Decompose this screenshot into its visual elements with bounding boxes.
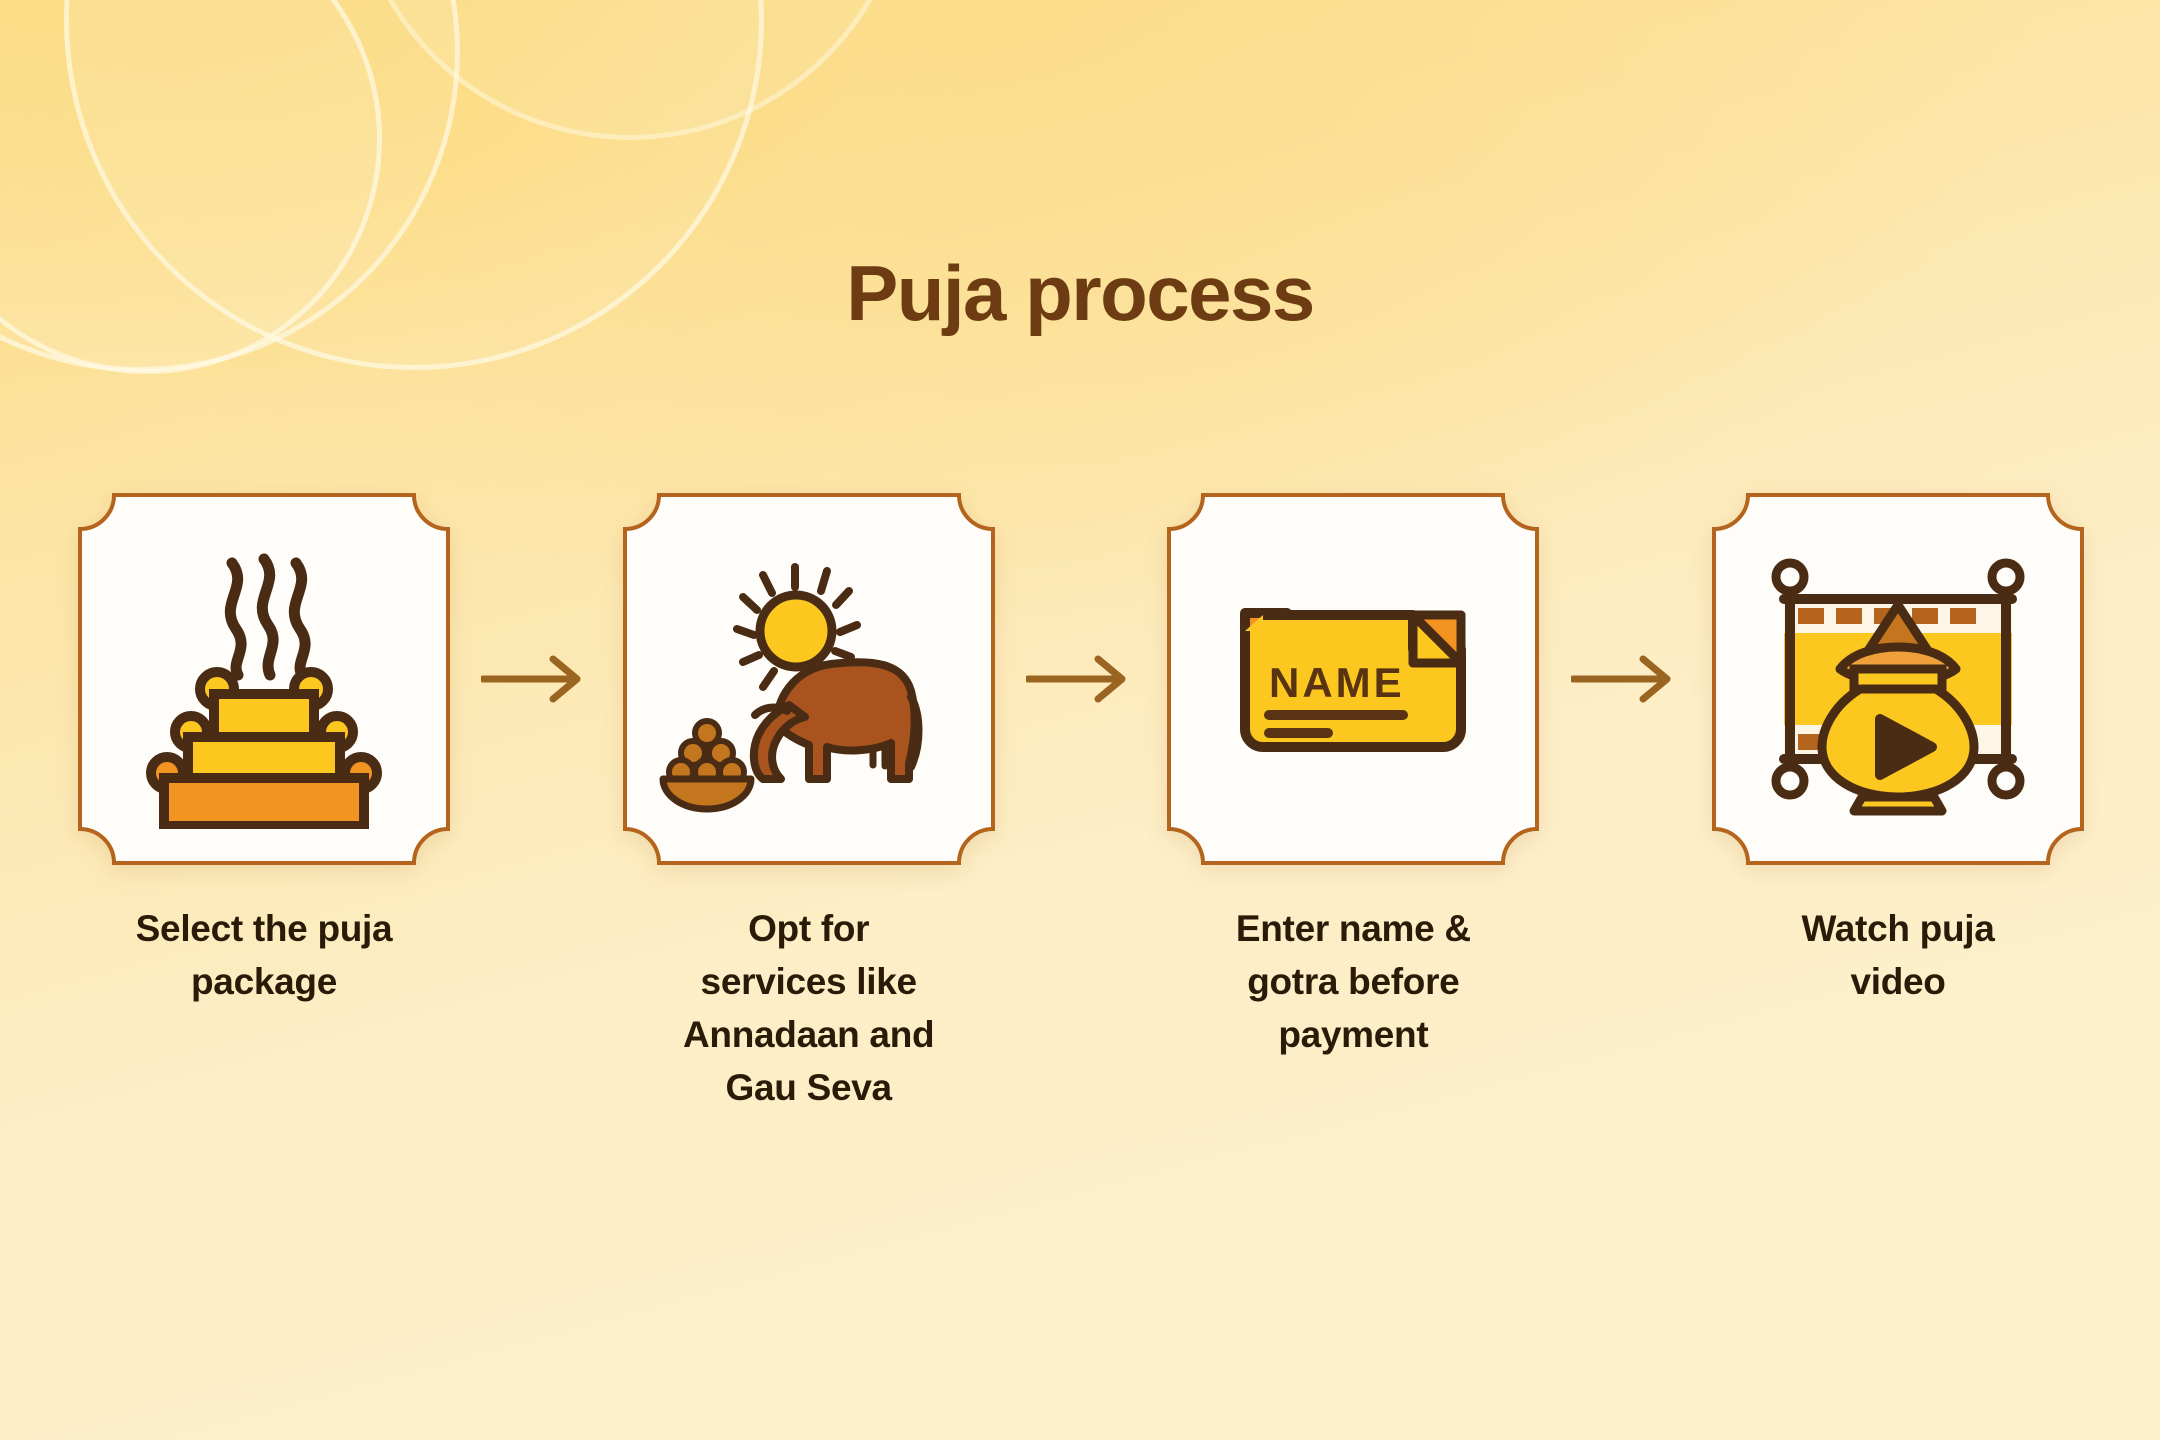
step-2-opt-services[interactable]: Opt for services like Annadaan and Gau S… xyxy=(623,493,995,1115)
step-1-caption: Select the puja package xyxy=(99,903,429,1009)
step-4-card[interactable] xyxy=(1712,493,2084,865)
name-card-icon: NAME xyxy=(1203,529,1503,829)
decor-circle-4 xyxy=(350,0,910,140)
step-3-enter-name[interactable]: NAME Enter name & gotra before payment xyxy=(1167,493,1539,1062)
step-3-caption: Enter name & gotra before payment xyxy=(1188,903,1518,1062)
step-4-watch-video[interactable]: Watch puja video xyxy=(1712,493,2084,1009)
step-4-caption: Watch puja video xyxy=(1733,903,2063,1009)
page-title: Puja process xyxy=(0,248,2160,339)
arrow-step-3-to-4 xyxy=(1539,493,1712,865)
arrow-step-1-to-2 xyxy=(450,493,623,865)
arrow-right-icon xyxy=(1026,651,1136,707)
name-card-label: NAME xyxy=(1269,659,1405,706)
step-2-caption: Opt for services like Annadaan and Gau S… xyxy=(644,903,974,1115)
puja-video-icon xyxy=(1748,529,2048,829)
arrow-right-icon xyxy=(481,651,591,707)
step-2-card[interactable] xyxy=(623,493,995,865)
puja-process-steps: Select the puja package xyxy=(78,493,2084,1115)
arrow-step-2-to-3 xyxy=(995,493,1168,865)
puja-altar-icon xyxy=(114,529,414,829)
arrow-right-icon xyxy=(1571,651,1681,707)
step-1-card[interactable] xyxy=(78,493,450,865)
step-1-select-package[interactable]: Select the puja package xyxy=(78,493,450,1009)
step-3-card[interactable]: NAME xyxy=(1167,493,1539,865)
cow-seva-icon xyxy=(659,529,959,829)
